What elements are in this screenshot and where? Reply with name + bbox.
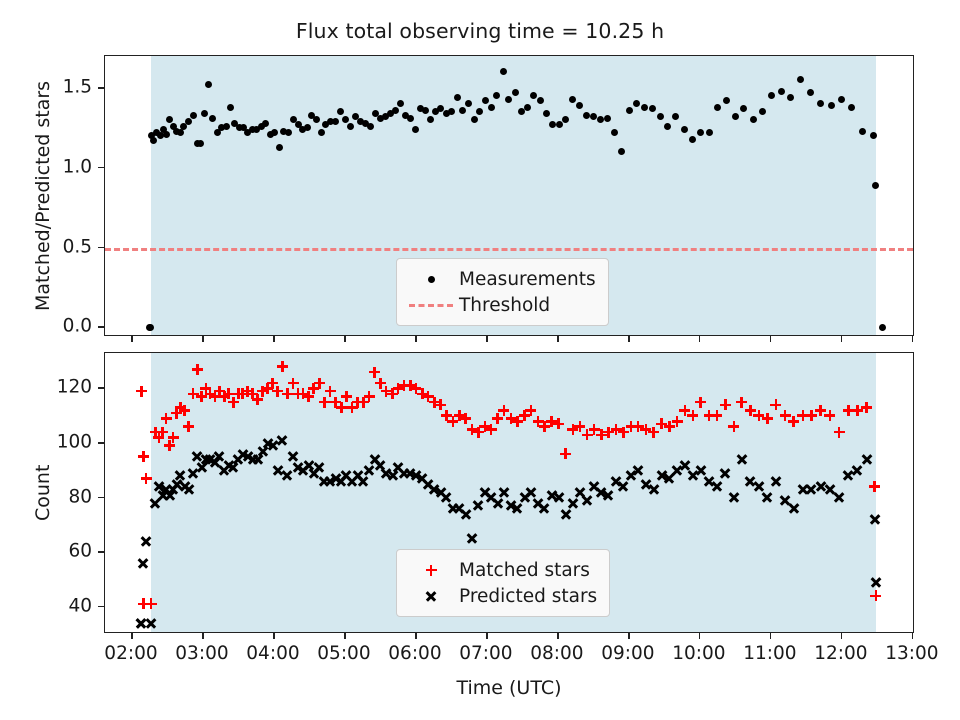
x-tick-label: 07:00	[459, 643, 512, 664]
bottom-panel-legend: Matched stars Predicted stars	[396, 549, 610, 617]
x-tick-mark	[699, 336, 701, 342]
legend-label-measurements: Measurements	[453, 269, 596, 290]
y-tick-label: 120	[57, 377, 92, 398]
x-tick-mark	[557, 633, 559, 639]
x-tick-label: 13:00	[885, 643, 938, 664]
y-tick-mark	[98, 497, 104, 499]
x-tick-mark	[486, 336, 488, 342]
x-tick-mark	[415, 336, 417, 342]
x-tick-label: 03:00	[175, 643, 228, 664]
y-tick-mark	[98, 387, 104, 389]
x-tick-mark	[273, 336, 275, 342]
y-tick-label: 40	[68, 595, 92, 616]
data-point-measurements	[576, 102, 583, 109]
top-panel-legend: Measurements Threshold	[396, 258, 609, 326]
x-tick-mark	[912, 633, 914, 639]
measurements-dot-icon	[409, 266, 453, 292]
data-point-measurements	[732, 113, 739, 120]
legend-label-predicted-stars: Predicted stars	[453, 586, 597, 607]
x-tick-label: 10:00	[672, 643, 725, 664]
legend-item-threshold: Threshold	[409, 292, 596, 318]
bottom-panel-y-axis-label: Count	[32, 464, 54, 520]
data-point-measurements	[590, 113, 597, 120]
predicted-stars-cross-icon	[409, 583, 453, 609]
data-point-measurements	[150, 137, 157, 144]
data-point-measurements	[689, 136, 696, 143]
legend-item-matched-stars: Matched stars	[409, 557, 597, 583]
x-tick-label: 02:00	[104, 643, 157, 664]
data-point-measurements	[185, 118, 192, 125]
data-point-measurements	[190, 112, 197, 119]
x-tick-mark	[344, 633, 346, 639]
y-tick-mark	[98, 442, 104, 444]
x-tick-mark	[557, 336, 559, 342]
x-axis-label: Time (UTC)	[104, 677, 914, 699]
data-point-measurements	[626, 107, 633, 114]
data-point-measurements	[223, 123, 230, 130]
x-tick-mark	[841, 633, 843, 639]
x-tick-mark	[699, 633, 701, 639]
y-tick-label: 100	[57, 432, 92, 453]
x-tick-label: 04:00	[246, 643, 299, 664]
x-tick-label: 08:00	[530, 643, 583, 664]
data-point-measurements	[422, 107, 429, 114]
y-tick-mark	[98, 247, 104, 249]
data-point-measurements	[412, 126, 419, 133]
x-tick-mark	[131, 336, 133, 342]
data-point-measurements	[407, 115, 414, 122]
legend-label-threshold: Threshold	[453, 295, 550, 316]
data-point-measurements	[524, 104, 531, 111]
data-point-measurements	[879, 324, 886, 331]
x-tick-label: 12:00	[814, 643, 867, 664]
data-point-measurements	[681, 126, 688, 133]
data-point-measurements	[750, 116, 757, 123]
y-tick-mark	[98, 326, 104, 328]
data-point-measurements	[657, 113, 664, 120]
x-tick-mark	[628, 633, 630, 639]
data-point-measurements	[859, 128, 866, 135]
data-point-measurements	[177, 129, 184, 136]
data-point-measurements	[872, 182, 879, 189]
data-point-measurements	[347, 123, 354, 130]
data-point-measurements	[714, 104, 721, 111]
matched-stars-plus-icon	[409, 557, 453, 583]
x-tick-label: 06:00	[388, 643, 441, 664]
y-tick-label: 60	[68, 541, 92, 562]
data-point-measurements	[569, 96, 576, 103]
data-point-measurements	[828, 102, 835, 109]
x-tick-mark	[202, 633, 204, 639]
data-point-measurements	[537, 97, 544, 104]
data-point-measurements	[649, 105, 656, 112]
legend-item-measurements: Measurements	[409, 266, 596, 292]
y-tick-mark	[98, 551, 104, 553]
data-point-measurements	[848, 104, 855, 111]
x-tick-mark	[770, 336, 772, 342]
y-tick-mark	[98, 167, 104, 169]
x-tick-mark	[273, 633, 275, 639]
x-tick-mark	[841, 336, 843, 342]
data-point-measurements	[604, 115, 611, 122]
x-tick-mark	[344, 336, 346, 342]
data-point-measurements	[488, 104, 495, 111]
x-tick-mark	[770, 633, 772, 639]
threshold-dashed-line-icon	[409, 292, 453, 318]
y-tick-label: 1.0	[63, 156, 92, 177]
y-tick-mark	[98, 87, 104, 89]
x-tick-label: 09:00	[601, 643, 654, 664]
data-point-measurements	[723, 97, 730, 104]
legend-item-predicted-stars: Predicted stars	[409, 583, 597, 609]
data-point-measurements	[838, 96, 845, 103]
data-point-measurements	[471, 116, 478, 123]
y-tick-label: 0.5	[63, 236, 92, 257]
figure-title: Flux total observing time = 10.25 h	[0, 19, 960, 43]
data-point-measurements	[778, 88, 785, 95]
data-point-measurements	[706, 129, 713, 136]
x-tick-mark	[131, 633, 133, 639]
data-point-measurements	[227, 104, 234, 111]
y-tick-label: 80	[68, 486, 92, 507]
data-point-measurements	[870, 132, 877, 139]
data-point-measurements	[512, 89, 519, 96]
data-point-measurements	[262, 120, 269, 127]
threshold-line	[105, 248, 913, 251]
data-point-measurements	[583, 112, 590, 119]
x-tick-mark	[628, 336, 630, 342]
x-tick-mark	[415, 633, 417, 639]
data-point-measurements	[556, 121, 563, 128]
y-tick-label: 1.5	[63, 76, 92, 97]
top-panel-y-axis-label: Matched/Predicted stars	[32, 80, 54, 310]
data-point-measurements	[392, 107, 399, 114]
data-point-measurements	[543, 110, 550, 117]
x-tick-mark	[202, 336, 204, 342]
x-tick-mark	[912, 336, 914, 342]
data-point-measurements	[518, 108, 525, 115]
figure-canvas: Flux total observing time = 10.25 h 0.00…	[0, 0, 960, 720]
y-tick-mark	[98, 606, 104, 608]
x-tick-label: 11:00	[743, 643, 796, 664]
x-tick-mark	[486, 633, 488, 639]
data-point-measurements	[201, 110, 208, 117]
data-point-measurements	[454, 94, 461, 101]
x-tick-label: 05:00	[317, 643, 370, 664]
data-point-measurements	[276, 144, 283, 151]
data-point-measurements	[163, 131, 170, 138]
y-tick-label: 0.0	[63, 316, 92, 337]
data-point-measurements	[367, 123, 374, 130]
data-point-measurements	[641, 104, 648, 111]
legend-label-matched-stars: Matched stars	[453, 560, 590, 581]
